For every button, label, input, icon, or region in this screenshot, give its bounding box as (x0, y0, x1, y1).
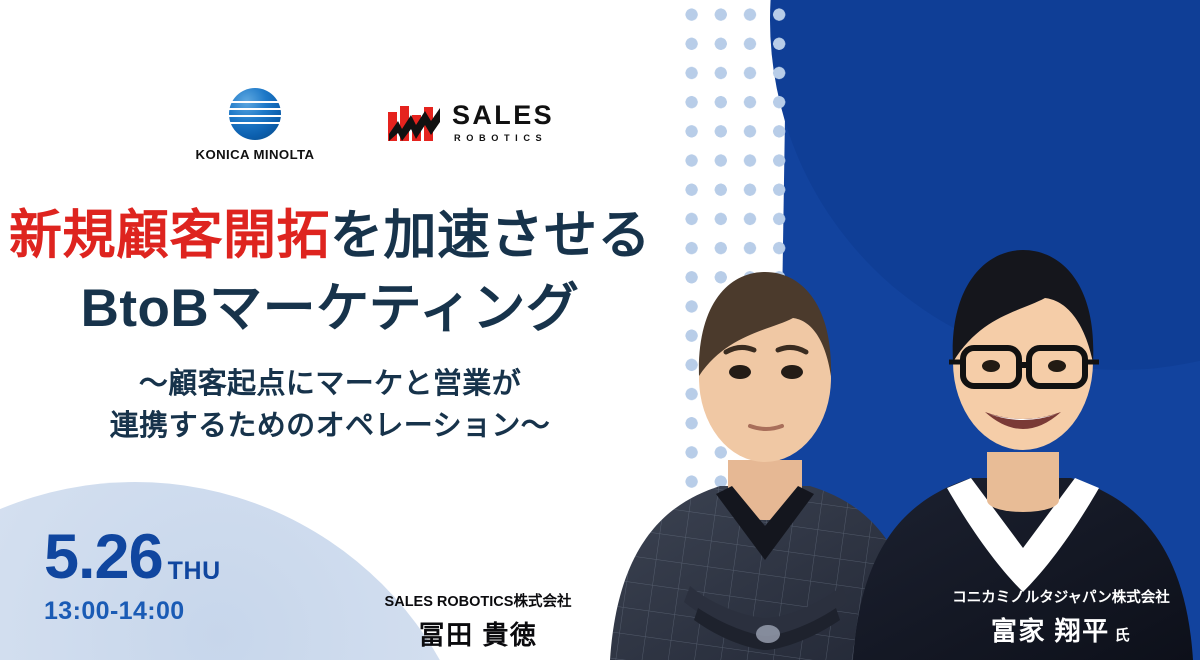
konica-minolta-wordmark: KONICA MINOLTA (196, 147, 315, 162)
schedule-date-row: 5.26 THU (44, 528, 221, 588)
konica-minolta-logo: KONICA MINOLTA (195, 88, 315, 162)
speaker-left-company: SALES ROBOTICS株式会社 (318, 590, 638, 611)
subtitle: 〜顧客起点にマーケと営業が 連携するためのオペレーション〜 (0, 363, 660, 447)
title-rest-text: を加速させる (330, 206, 651, 265)
speaker-left: SALES ROBOTICS株式会社 冨田 貴徳 (318, 590, 638, 652)
event-date: 5.26 (44, 528, 163, 588)
speaker-right-name-row: 富家 翔平氏 (930, 611, 1192, 648)
speaker-left-name: 冨田 貴徳 (318, 615, 638, 652)
sales-robotics-wordmark: SALES (452, 102, 554, 129)
event-weekday: THU (168, 559, 221, 584)
schedule-block: 5.26 THU 13:00-14:00 (44, 528, 221, 626)
title-line-1: 新規顧客開拓を加速させる (0, 205, 660, 268)
konica-minolta-globe-icon (229, 88, 281, 140)
sales-robotics-text: SALES ROBOTICS (452, 102, 554, 143)
title-accent-text: 新規顧客開拓 (9, 206, 330, 265)
speaker-right: コニカミノルタジャパン株式会社 富家 翔平氏 (930, 586, 1192, 648)
headline: 新規顧客開拓を加速させる BtoBマーケティング (0, 205, 660, 340)
title-line-2: BtoBマーケティング (0, 278, 660, 341)
speaker-right-company: コニカミノルタジャパン株式会社 (930, 586, 1192, 607)
logo-row: KONICA MINOLTA SALES ROBOTICS (195, 88, 565, 166)
sales-robotics-sub-wordmark: ROBOTICS (454, 133, 554, 143)
webinar-banner: KONICA MINOLTA SALES ROBOTICS 新規顧客開拓を加速さ… (0, 0, 1200, 660)
subtitle-line-1: 〜顧客起点にマーケと営業が (0, 363, 660, 405)
subtitle-line-2: 連携するためのオペレーション〜 (0, 405, 660, 447)
speaker-right-suffix: 氏 (1115, 627, 1132, 644)
event-time: 13:00-14:00 (44, 597, 221, 626)
sales-robotics-bars-icon (387, 103, 443, 143)
speaker-right-name: 富家 翔平 (991, 616, 1110, 646)
sales-robotics-logo: SALES ROBOTICS (387, 88, 554, 143)
